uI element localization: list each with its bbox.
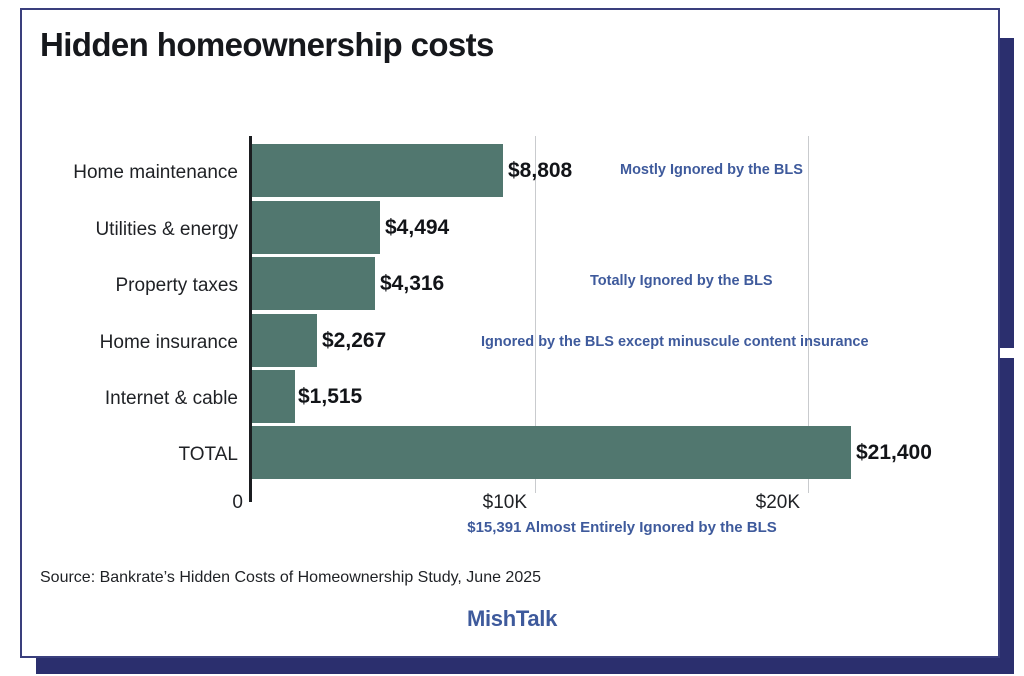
- bar-internet-cable: [252, 370, 295, 423]
- category-label-utilities-energy: Utilities & energy: [22, 219, 238, 241]
- source-note: Source: Bankrate’s Hidden Costs of Homeo…: [40, 569, 541, 587]
- category-label-home-maintenance: Home maintenance: [22, 162, 238, 184]
- category-label-total: TOTAL: [22, 444, 238, 466]
- category-label-internet-cable: Internet & cable: [22, 388, 238, 410]
- bar-total: [252, 426, 851, 479]
- annotation-home-maintenance: Mostly Ignored by the BLS: [620, 162, 803, 178]
- bar-value-home-insurance: $2,267: [322, 329, 386, 353]
- plot-area: Home maintenance $8,808 Utilities & ener…: [22, 10, 1002, 660]
- x-tick-10k: $10K: [439, 492, 527, 514]
- bar-value-utilities-energy: $4,494: [385, 216, 449, 240]
- chart-screenshot: Hidden homeownership costs Home maintena…: [0, 0, 1024, 676]
- category-label-property-taxes: Property taxes: [22, 275, 238, 297]
- annotation-total: $15,391 Almost Entirely Ignored by the B…: [452, 518, 792, 538]
- bar-value-property-taxes: $4,316: [380, 272, 444, 296]
- x-tick-20k: $20K: [712, 492, 800, 514]
- brand-logo: MishTalk: [22, 606, 1002, 632]
- bar-property-taxes: [252, 257, 375, 310]
- category-label-home-insurance: Home insurance: [22, 332, 238, 354]
- bar-value-internet-cable: $1,515: [298, 385, 362, 409]
- x-tick-0: 0: [195, 492, 243, 514]
- annotation-property-taxes: Totally Ignored by the BLS: [590, 273, 773, 289]
- bar-home-maintenance: [252, 144, 503, 197]
- chart-card: Hidden homeownership costs Home maintena…: [20, 8, 1000, 658]
- bar-value-total: $21,400: [856, 441, 932, 465]
- bar-utilities-energy: [252, 201, 380, 254]
- annotation-home-insurance: Ignored by the BLS except minuscule cont…: [481, 334, 869, 350]
- bar-home-insurance: [252, 314, 317, 367]
- bar-value-home-maintenance: $8,808: [508, 159, 572, 183]
